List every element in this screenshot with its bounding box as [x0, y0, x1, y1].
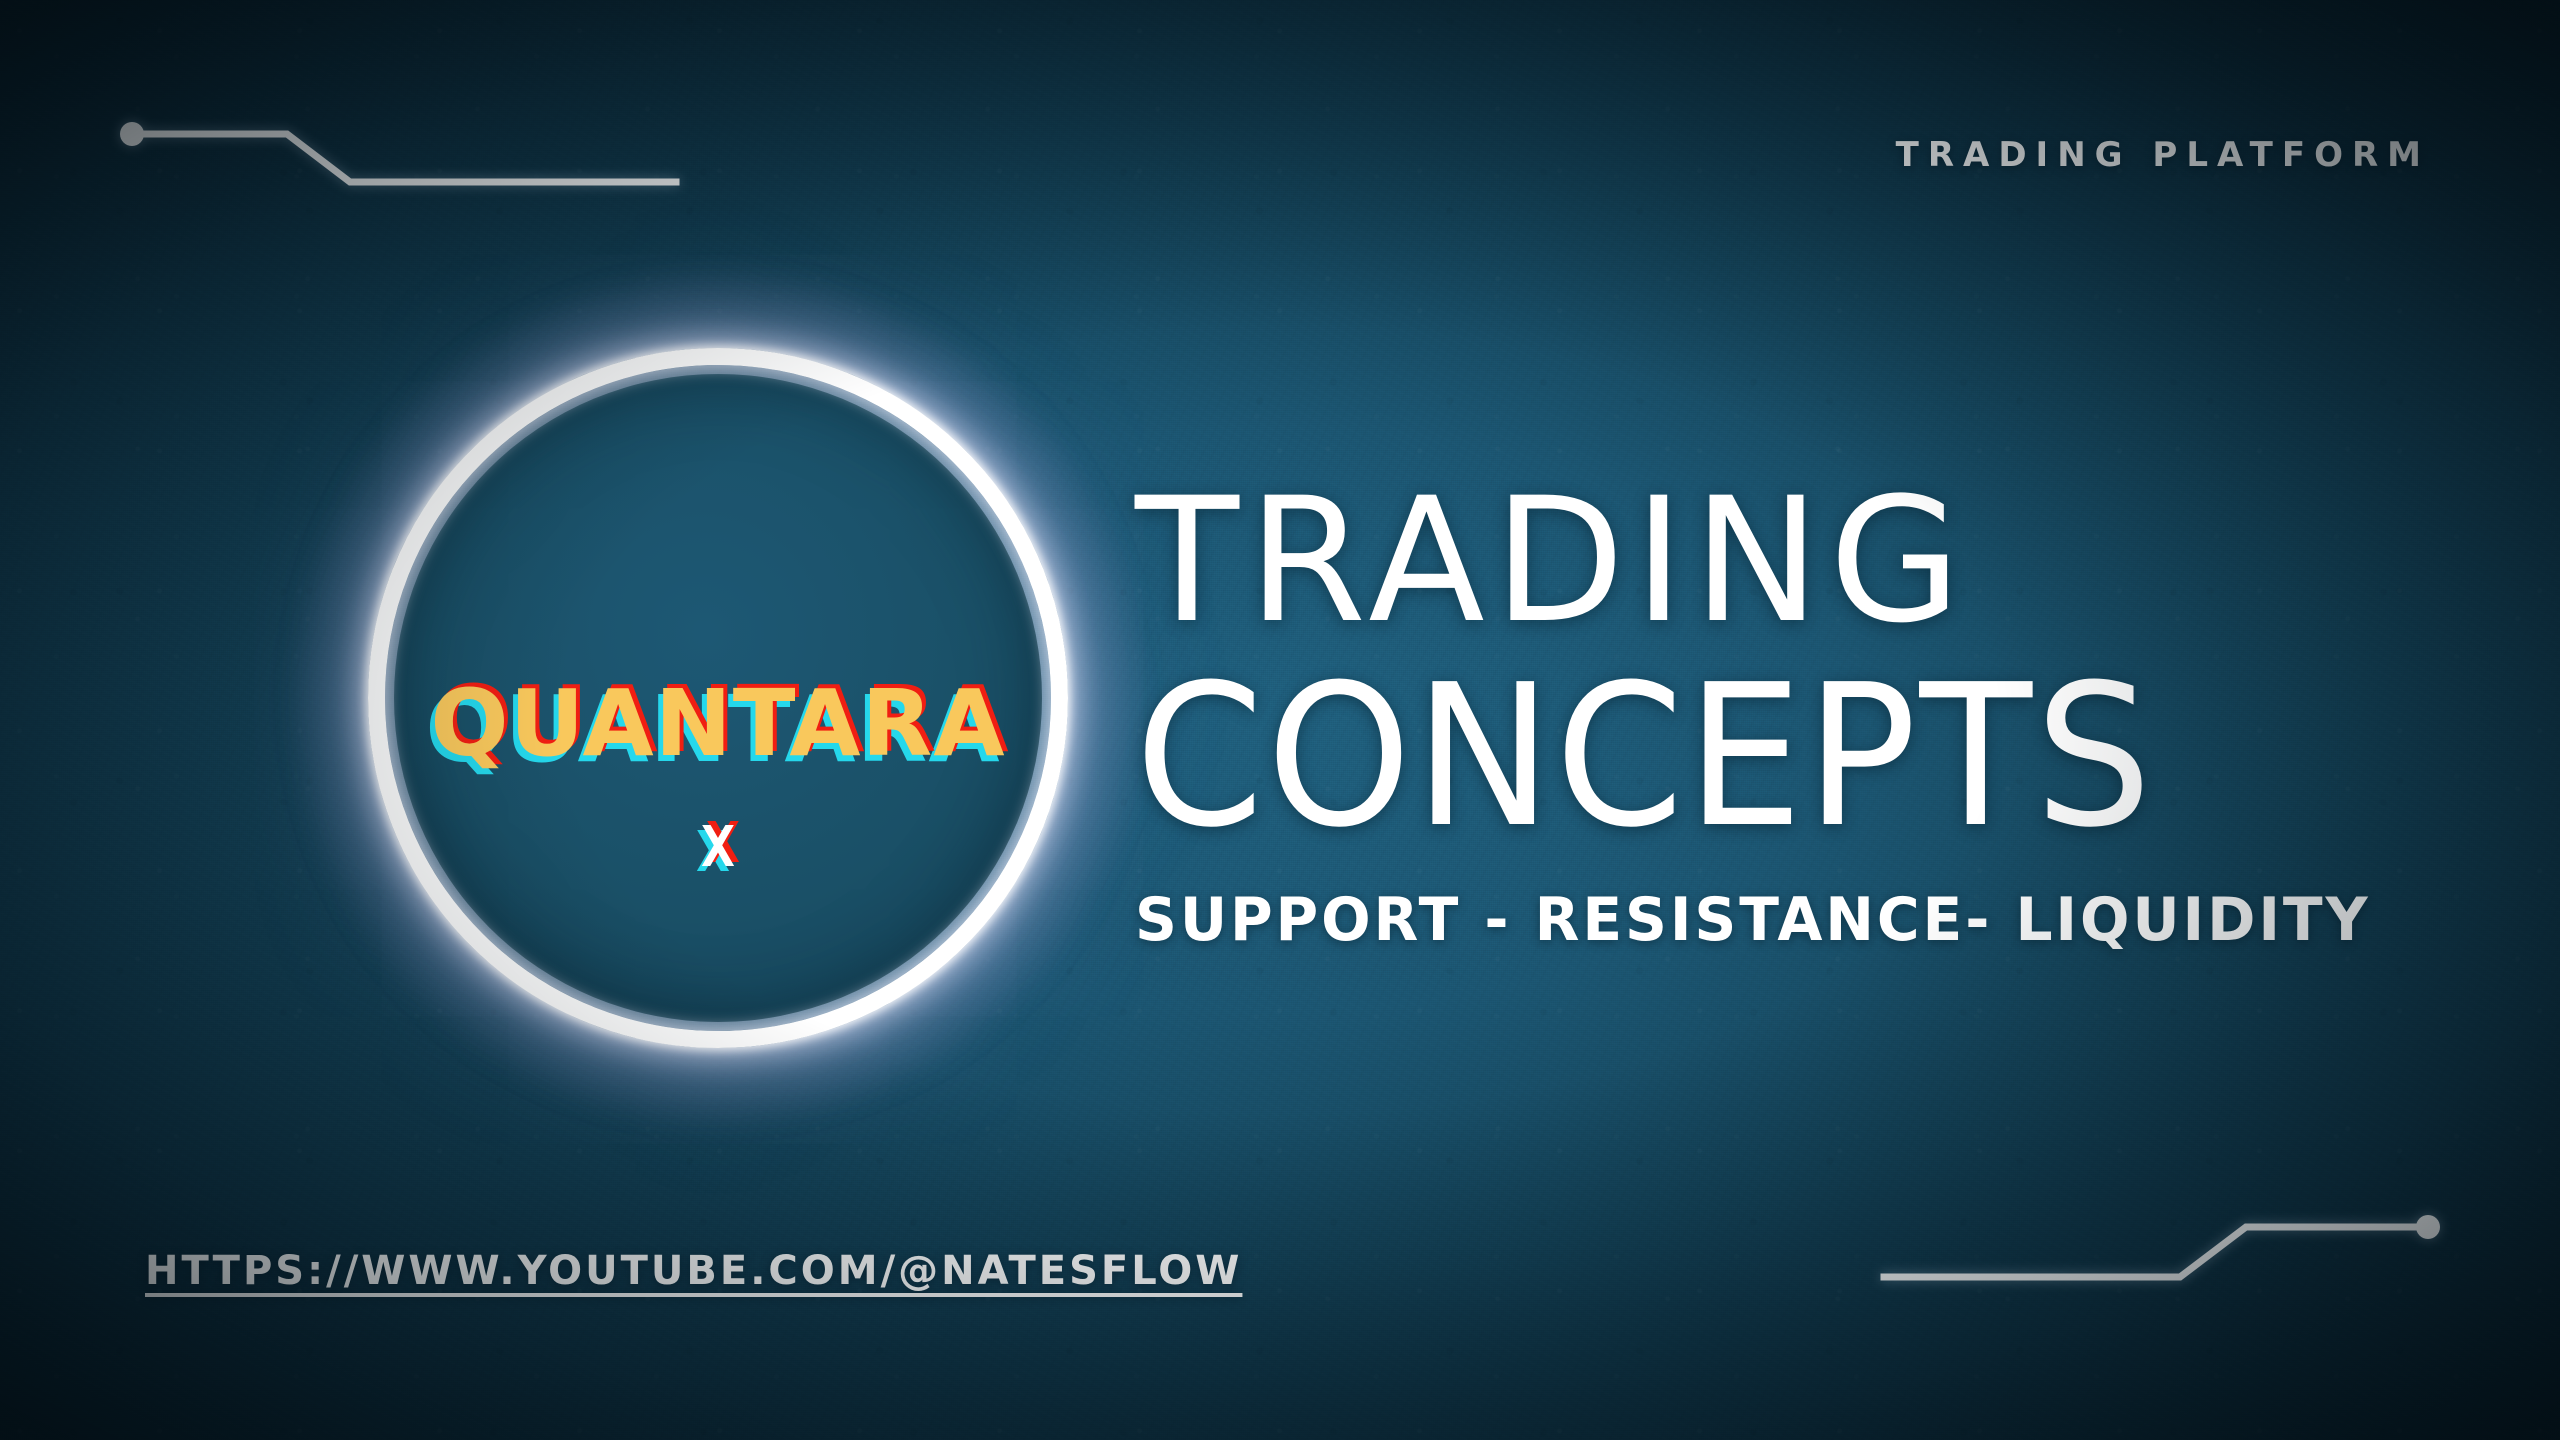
headline-block: TRADING CONCEPTS SUPPORT - RESISTANCE- L…	[1135, 478, 2415, 955]
brand-mark-x: X	[368, 820, 1068, 876]
thumbnail-canvas: TRADING PLATFORM QUANTARA X TRADING CONC…	[0, 0, 2560, 1440]
circuit-trace-bottom-right	[1880, 1205, 2440, 1335]
headline-line-2: CONCEPTS	[1135, 663, 2338, 851]
circuit-path-bottom-right	[1884, 1227, 2428, 1277]
headline-line-1: TRADING	[1135, 478, 2402, 643]
circuit-path-top-left	[132, 134, 676, 182]
youtube-channel-url[interactable]: HTTPS://WWW.YOUTUBE.COM/@NATESFLOW	[145, 1248, 1242, 1294]
circuit-trace-top-left	[120, 120, 680, 250]
platform-tag-label: TRADING PLATFORM	[1896, 135, 2430, 175]
brand-logo-badge: QUANTARA X	[368, 348, 1068, 1048]
circuit-node-dot-right	[2416, 1215, 2440, 1239]
brand-name-text: QUANTARA	[368, 678, 1068, 770]
headline-subtitle: SUPPORT - RESISTANCE- LIQUIDITY	[1135, 885, 2377, 955]
